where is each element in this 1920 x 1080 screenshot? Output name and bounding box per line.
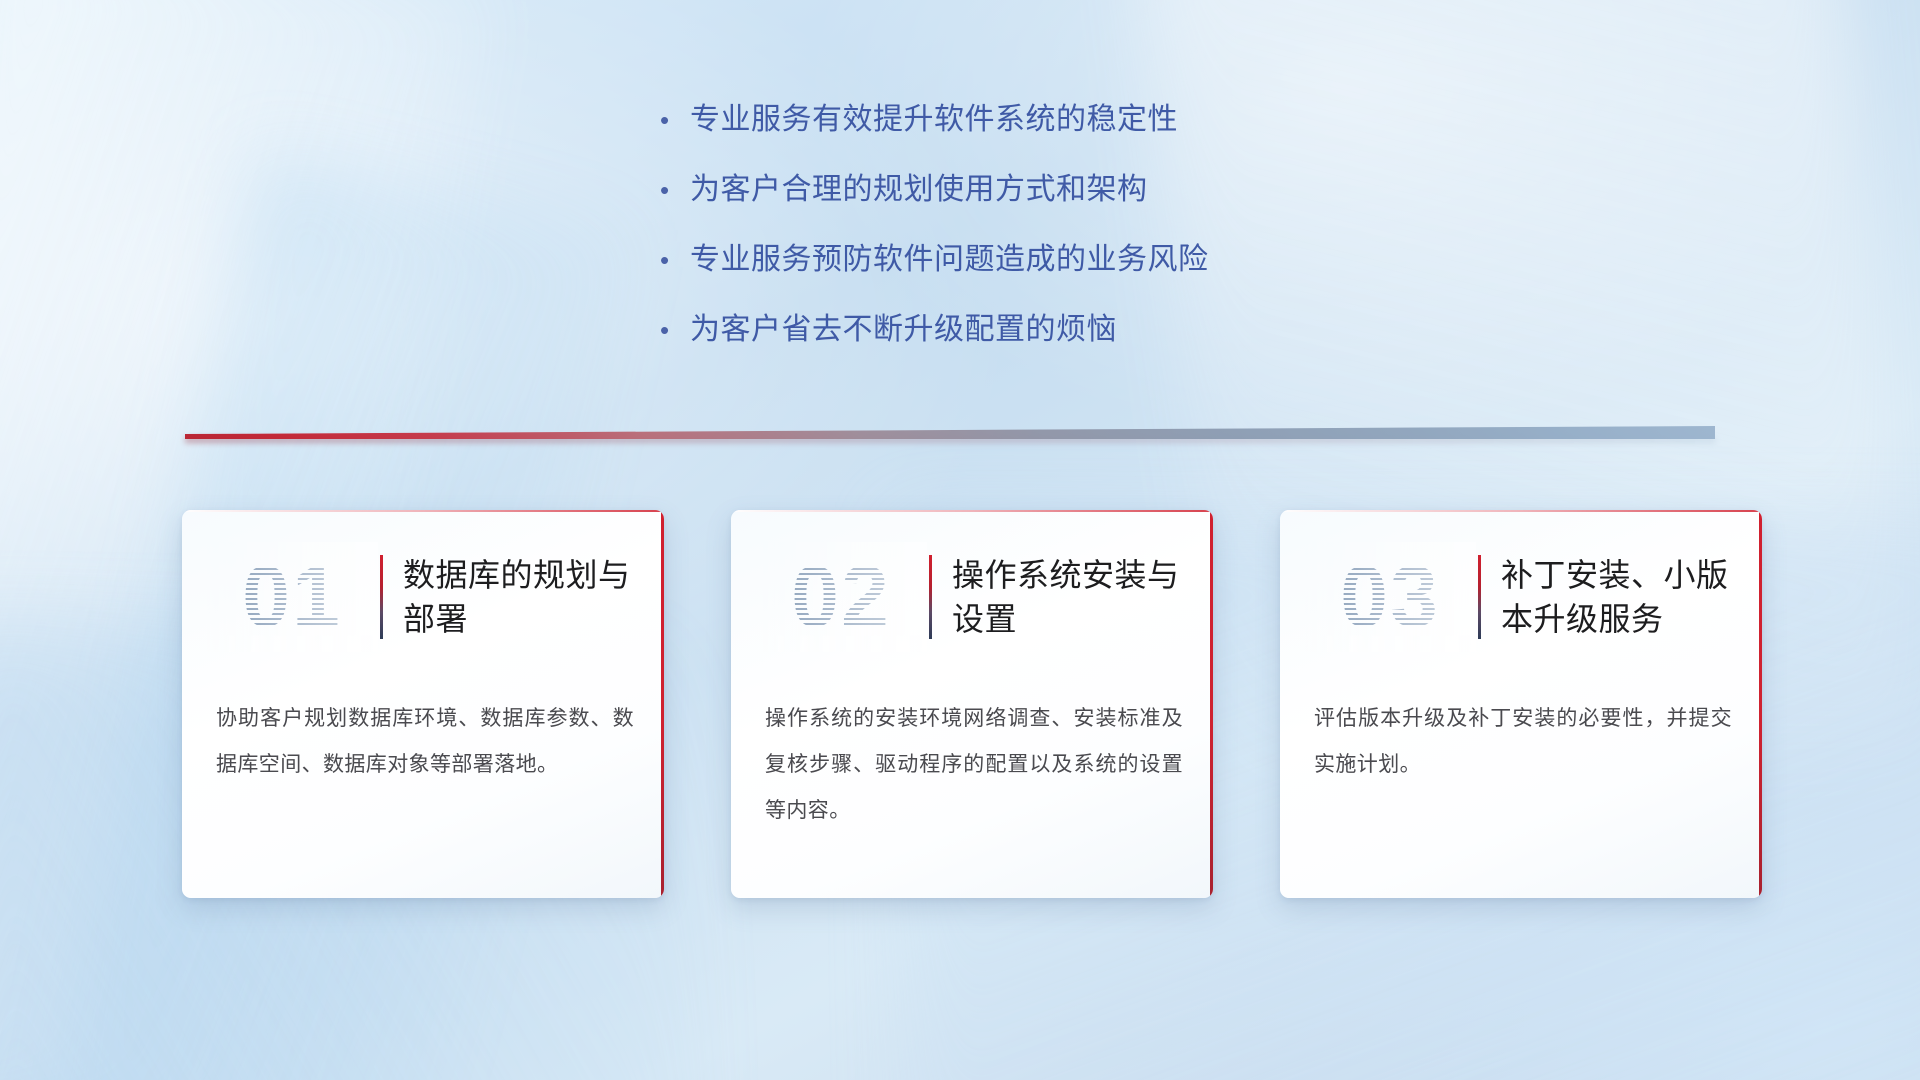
- card-body-text: 评估版本升级及补丁安装的必要性，并提交实施计划。: [1314, 696, 1732, 788]
- section-divider: [185, 426, 1715, 446]
- card-number-text: 03: [1340, 548, 1440, 647]
- list-item: • 为客户省去不断升级配置的烦恼: [660, 310, 1420, 350]
- service-card-group: 01 数据库的规划与部署 协助客户规划数据库环境、数据库参数、数据库空间、数据库…: [182, 510, 1742, 910]
- card-body-text: 操作系统的安装环境网络调查、安装标准及复核步骤、驱动程序的配置以及系统的设置等内…: [765, 696, 1183, 834]
- bullet-text: 专业服务有效提升软件系统的稳定性: [690, 100, 1178, 140]
- bullet-text: 专业服务预防软件问题造成的业务风险: [690, 240, 1209, 280]
- card-watermark-number: 02: [755, 542, 927, 652]
- card-header: 03 补丁安装、小版本升级服务: [1280, 536, 1762, 658]
- service-card-01[interactable]: 01 数据库的规划与部署 协助客户规划数据库环境、数据库参数、数据库空间、数据库…: [182, 510, 664, 898]
- bullet-text: 为客户省去不断升级配置的烦恼: [690, 310, 1117, 350]
- card-title-accent-bar: [1478, 555, 1481, 639]
- list-item: • 专业服务预防软件问题造成的业务风险: [660, 240, 1420, 280]
- card-title-accent-bar: [929, 555, 932, 639]
- card-top-sheen: [731, 510, 1213, 512]
- card-watermark-number: 01: [206, 542, 378, 652]
- card-title: 补丁安装、小版本升级服务: [1501, 553, 1762, 641]
- bullet-text: 为客户合理的规划使用方式和架构: [690, 170, 1148, 210]
- card-number-text: 02: [791, 548, 891, 647]
- card-title: 操作系统安装与设置: [952, 553, 1213, 641]
- card-title-accent-bar: [380, 555, 383, 639]
- bullet-dot-icon: •: [660, 100, 690, 140]
- card-header: 02 操作系统安装与设置: [731, 536, 1213, 658]
- card-number-text: 01: [242, 548, 342, 647]
- list-item: • 专业服务有效提升软件系统的稳定性: [660, 100, 1420, 140]
- card-header: 01 数据库的规划与部署: [182, 536, 664, 658]
- slide-canvas: • 专业服务有效提升软件系统的稳定性 • 为客户合理的规划使用方式和架构 • 专…: [0, 0, 1920, 1080]
- card-top-sheen: [182, 510, 664, 512]
- service-card-03[interactable]: 03 补丁安装、小版本升级服务 评估版本升级及补丁安装的必要性，并提交实施计划。: [1280, 510, 1762, 898]
- card-top-sheen: [1280, 510, 1762, 512]
- bullet-dot-icon: •: [660, 240, 690, 280]
- bullet-dot-icon: •: [660, 170, 690, 210]
- card-body-text: 协助客户规划数据库环境、数据库参数、数据库空间、数据库对象等部署落地。: [216, 696, 634, 788]
- bullet-dot-icon: •: [660, 310, 690, 350]
- card-title: 数据库的规划与部署: [403, 553, 664, 641]
- divider-bar: [185, 426, 1715, 439]
- benefits-bullet-list: • 专业服务有效提升软件系统的稳定性 • 为客户合理的规划使用方式和架构 • 专…: [660, 100, 1420, 380]
- card-watermark-number: 03: [1304, 542, 1476, 652]
- service-card-02[interactable]: 02 操作系统安装与设置 操作系统的安装环境网络调查、安装标准及复核步骤、驱动程…: [731, 510, 1213, 898]
- list-item: • 为客户合理的规划使用方式和架构: [660, 170, 1420, 210]
